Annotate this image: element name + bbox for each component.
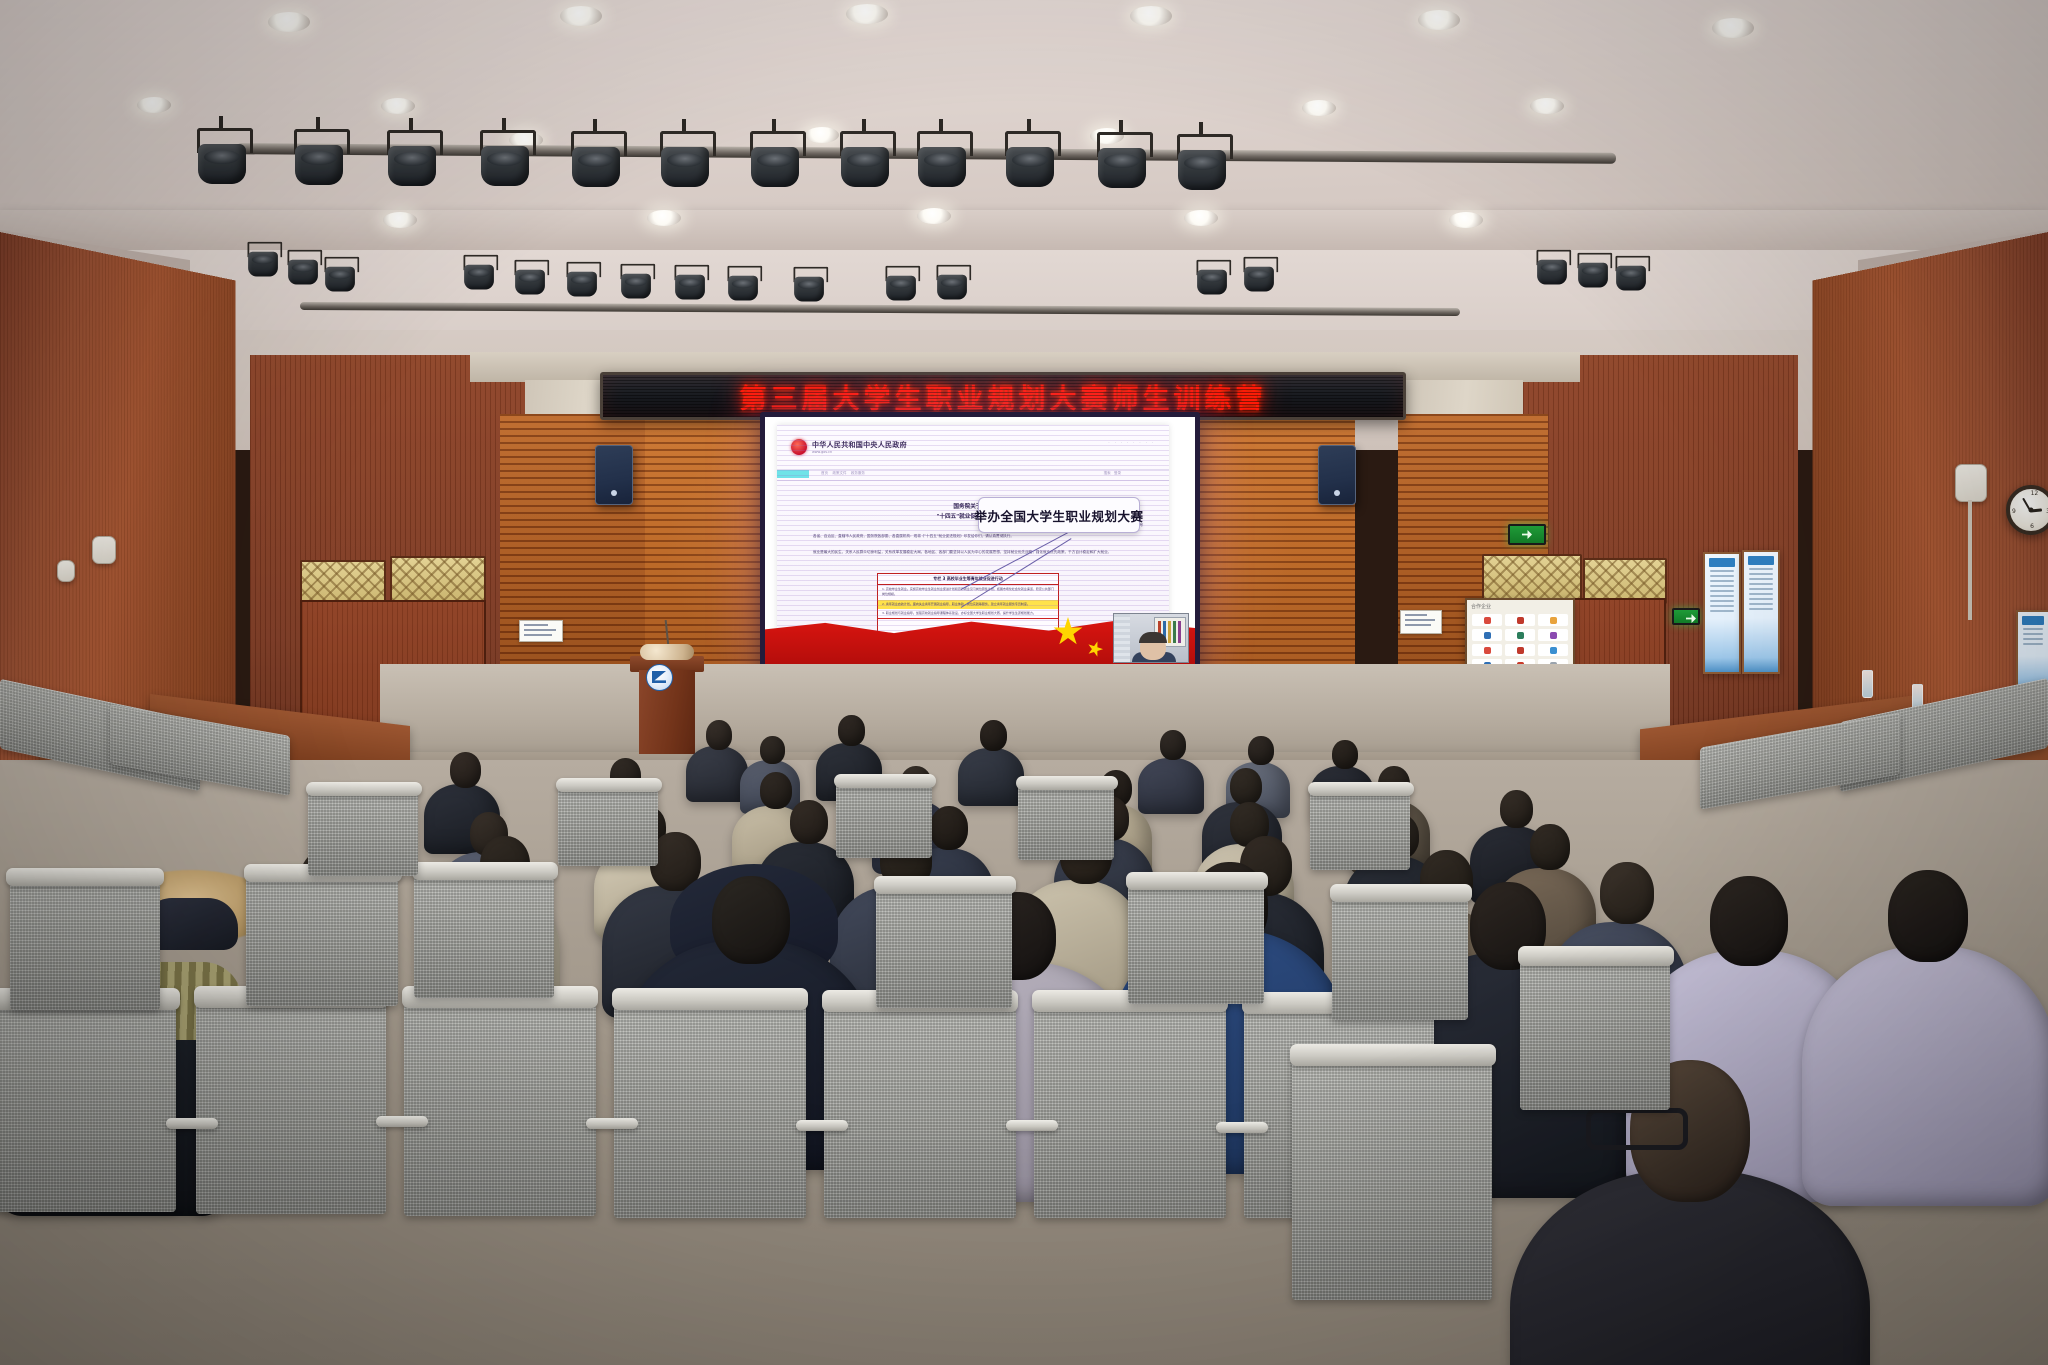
stage-light-icon [884,266,917,304]
seat-back-rail[interactable] [612,988,808,1010]
stage-light-icon [565,262,598,300]
stage-light-icon [726,266,759,304]
water-bottle-2 [1862,670,1873,698]
downlight-icon [1302,100,1336,116]
seat[interactable] [414,874,554,998]
wall-clock: 12 3 6 9 [2006,485,2048,535]
seat[interactable] [1332,896,1468,1020]
stage-light-icon [792,267,825,305]
downlight-icon [383,212,417,228]
seat[interactable] [308,790,418,876]
seat-back-rail[interactable] [306,782,422,796]
seat[interactable] [614,1002,806,1218]
sponsor-logo [1538,644,1568,656]
seat[interactable] [1310,790,1410,870]
seat-back-rail[interactable] [834,774,936,788]
sponsor-logo [1505,629,1535,641]
sponsor-logo [1472,629,1502,641]
stage-light-icon [935,265,968,303]
projected-document: 中华人民共和国中央人民政府 www.gov.cn · · · · · · · ·… [777,425,1169,651]
stage-light-icon [1003,131,1057,193]
seat[interactable] [1018,784,1114,860]
head [712,876,790,964]
seat-back-rail[interactable] [556,778,662,792]
callout-label-text: 举办全国大学生职业规划大赛 [975,506,1144,525]
auditorium-photo: 合作企业 12 3 6 9 [0,0,2048,1365]
stage-light-icon [658,131,712,193]
stage-light-icon [292,129,346,191]
eyeglasses-icon [1586,1108,1688,1150]
sponsor-logo [1472,614,1502,626]
info-panel-left [1703,552,1741,674]
sponsor-logo [1472,644,1502,656]
downlight-icon [137,97,171,113]
seat[interactable] [558,786,658,866]
seat[interactable] [1034,1004,1226,1218]
downlight-icon [846,4,888,24]
projection-screen: 中华人民共和国中央人民政府 www.gov.cn · · · · · · · ·… [760,412,1200,674]
seat-back-rail[interactable] [1126,872,1268,890]
seat-armrest[interactable] [796,1120,848,1131]
seat[interactable] [404,1000,596,1216]
column-sign [519,620,563,642]
downlight-icon [268,12,310,32]
stage-light-icon [1535,250,1568,288]
stage-light-icon [1242,257,1275,295]
podium [630,638,704,754]
sponsor-logo [1538,614,1568,626]
seat-back-rail[interactable] [6,868,164,886]
seat-back-rail[interactable] [1290,1044,1496,1066]
stage-light-icon [1195,260,1228,298]
downlight-icon [1418,10,1460,30]
wall-speaker-left [595,445,633,505]
wall-speaker-right [1318,445,1356,505]
video-bookshelf-left [1114,614,1130,662]
seat[interactable] [1128,884,1264,1004]
callout-label: 举办全国大学生职业规划大赛 [978,497,1140,533]
sponsor-board-title: 合作企业 [1467,600,1573,611]
university-logo-icon [646,664,673,691]
stage-light-icon [478,130,532,192]
sponsor-logo [1538,629,1568,641]
wall-device-left-2 [57,560,75,582]
seat[interactable] [196,1000,386,1214]
seat-back-rail[interactable] [1518,946,1674,966]
stage-light-icon [1175,134,1229,196]
seat-armrest[interactable] [376,1116,428,1127]
lattice-transom-left [390,556,486,602]
projector-scanlines [777,425,1169,651]
seat[interactable] [1292,1060,1492,1300]
exit-sign-icon-right [1672,608,1700,625]
stage-light-icon [323,257,356,295]
stage-light-icon [195,128,249,190]
stage-light-icon [838,131,892,193]
seat-armrest[interactable] [166,1118,218,1129]
downlight-icon [1130,6,1172,26]
seat-back-rail[interactable] [1330,884,1472,902]
stage-light-icon [513,260,546,298]
wall-sensor [1955,464,1987,502]
led-banner-text: 第三届大学生职业规划大赛师生训练营 [740,377,1267,416]
video-participant-hair [1139,632,1167,643]
wall-conduit [1968,500,1972,620]
stage-light-icon [385,130,439,192]
sponsor-logo [1505,614,1535,626]
downlight-icon [560,6,602,26]
sponsor-logo [1505,644,1535,656]
downlight-icon [381,98,415,114]
downlight-icon [917,208,951,224]
podium-flowers [640,644,694,660]
seat-armrest[interactable] [586,1118,638,1129]
seat[interactable] [836,782,932,858]
exit-sign-icon [1508,524,1546,545]
seat[interactable] [10,880,160,1010]
seat-back-rail[interactable] [1016,776,1118,790]
downlight-icon [647,210,681,226]
seat[interactable] [876,888,1012,1008]
stage-light-icon [619,264,652,302]
downlight-icon [1712,18,1754,38]
seat[interactable] [246,876,398,1006]
seat[interactable] [824,1004,1016,1218]
downlight-icon [1530,98,1564,114]
stage-light-icon [462,255,495,293]
seat-armrest[interactable] [1216,1122,1268,1133]
seat[interactable] [0,1002,176,1212]
stage-light-icon [748,131,802,193]
stage-light-icon [1095,132,1149,194]
seat-back-rail[interactable] [1308,782,1414,796]
stage-light-icon [246,242,279,280]
seat-back-rail[interactable] [874,876,1016,894]
seat-back-rail[interactable] [412,862,558,880]
downlight-icon [805,127,839,143]
seat[interactable] [1520,960,1670,1110]
stage-light-icon [1576,253,1609,291]
screen-surface: 中华人民共和国中央人民政府 www.gov.cn · · · · · · · ·… [765,417,1195,669]
wall-device-left [92,536,116,564]
column-sign-right [1400,610,1442,634]
downlight-icon [1449,212,1483,228]
downlight-icon [1184,210,1218,226]
video-call-participant [1113,613,1189,663]
stage-light-icon [915,131,969,193]
stage-light-icon [569,131,623,193]
lattice-transom-right [1482,554,1582,600]
stage-light-icon [286,250,319,288]
stage-light-icon [1614,256,1647,294]
stage-light-icon [673,265,706,303]
seat-armrest[interactable] [1006,1120,1058,1131]
info-panel-right [1742,550,1780,674]
